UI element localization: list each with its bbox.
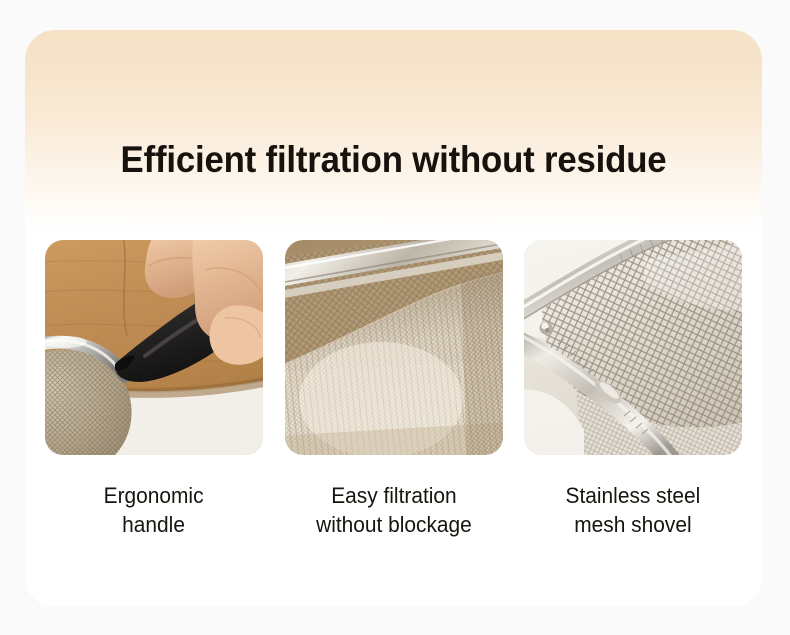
product-feature-card-page: Efficient filtration without residue — [0, 0, 790, 635]
feature-caption: Stainless steel mesh shovel — [566, 481, 701, 539]
stainless-mesh-shovel-photo — [524, 240, 742, 455]
feature-item-ergonomic-handle: Ergonomic handle — [45, 240, 263, 539]
feature-item-stainless-mesh-shovel: Stainless steel mesh shovel — [524, 240, 742, 539]
hand-holding-strainer-photo — [45, 240, 263, 455]
hero-gradient-band — [25, 30, 762, 230]
page-title: Efficient filtration without residue — [47, 138, 740, 182]
feature-item-easy-filtration: Easy filtration without blockage — [285, 240, 503, 539]
feature-caption: Easy filtration without blockage — [316, 481, 472, 539]
wire-mesh-macro-photo — [285, 240, 503, 455]
feature-caption: Ergonomic handle — [104, 481, 204, 539]
feature-card: Efficient filtration without residue — [25, 30, 762, 607]
feature-list: Ergonomic handle — [45, 240, 742, 539]
